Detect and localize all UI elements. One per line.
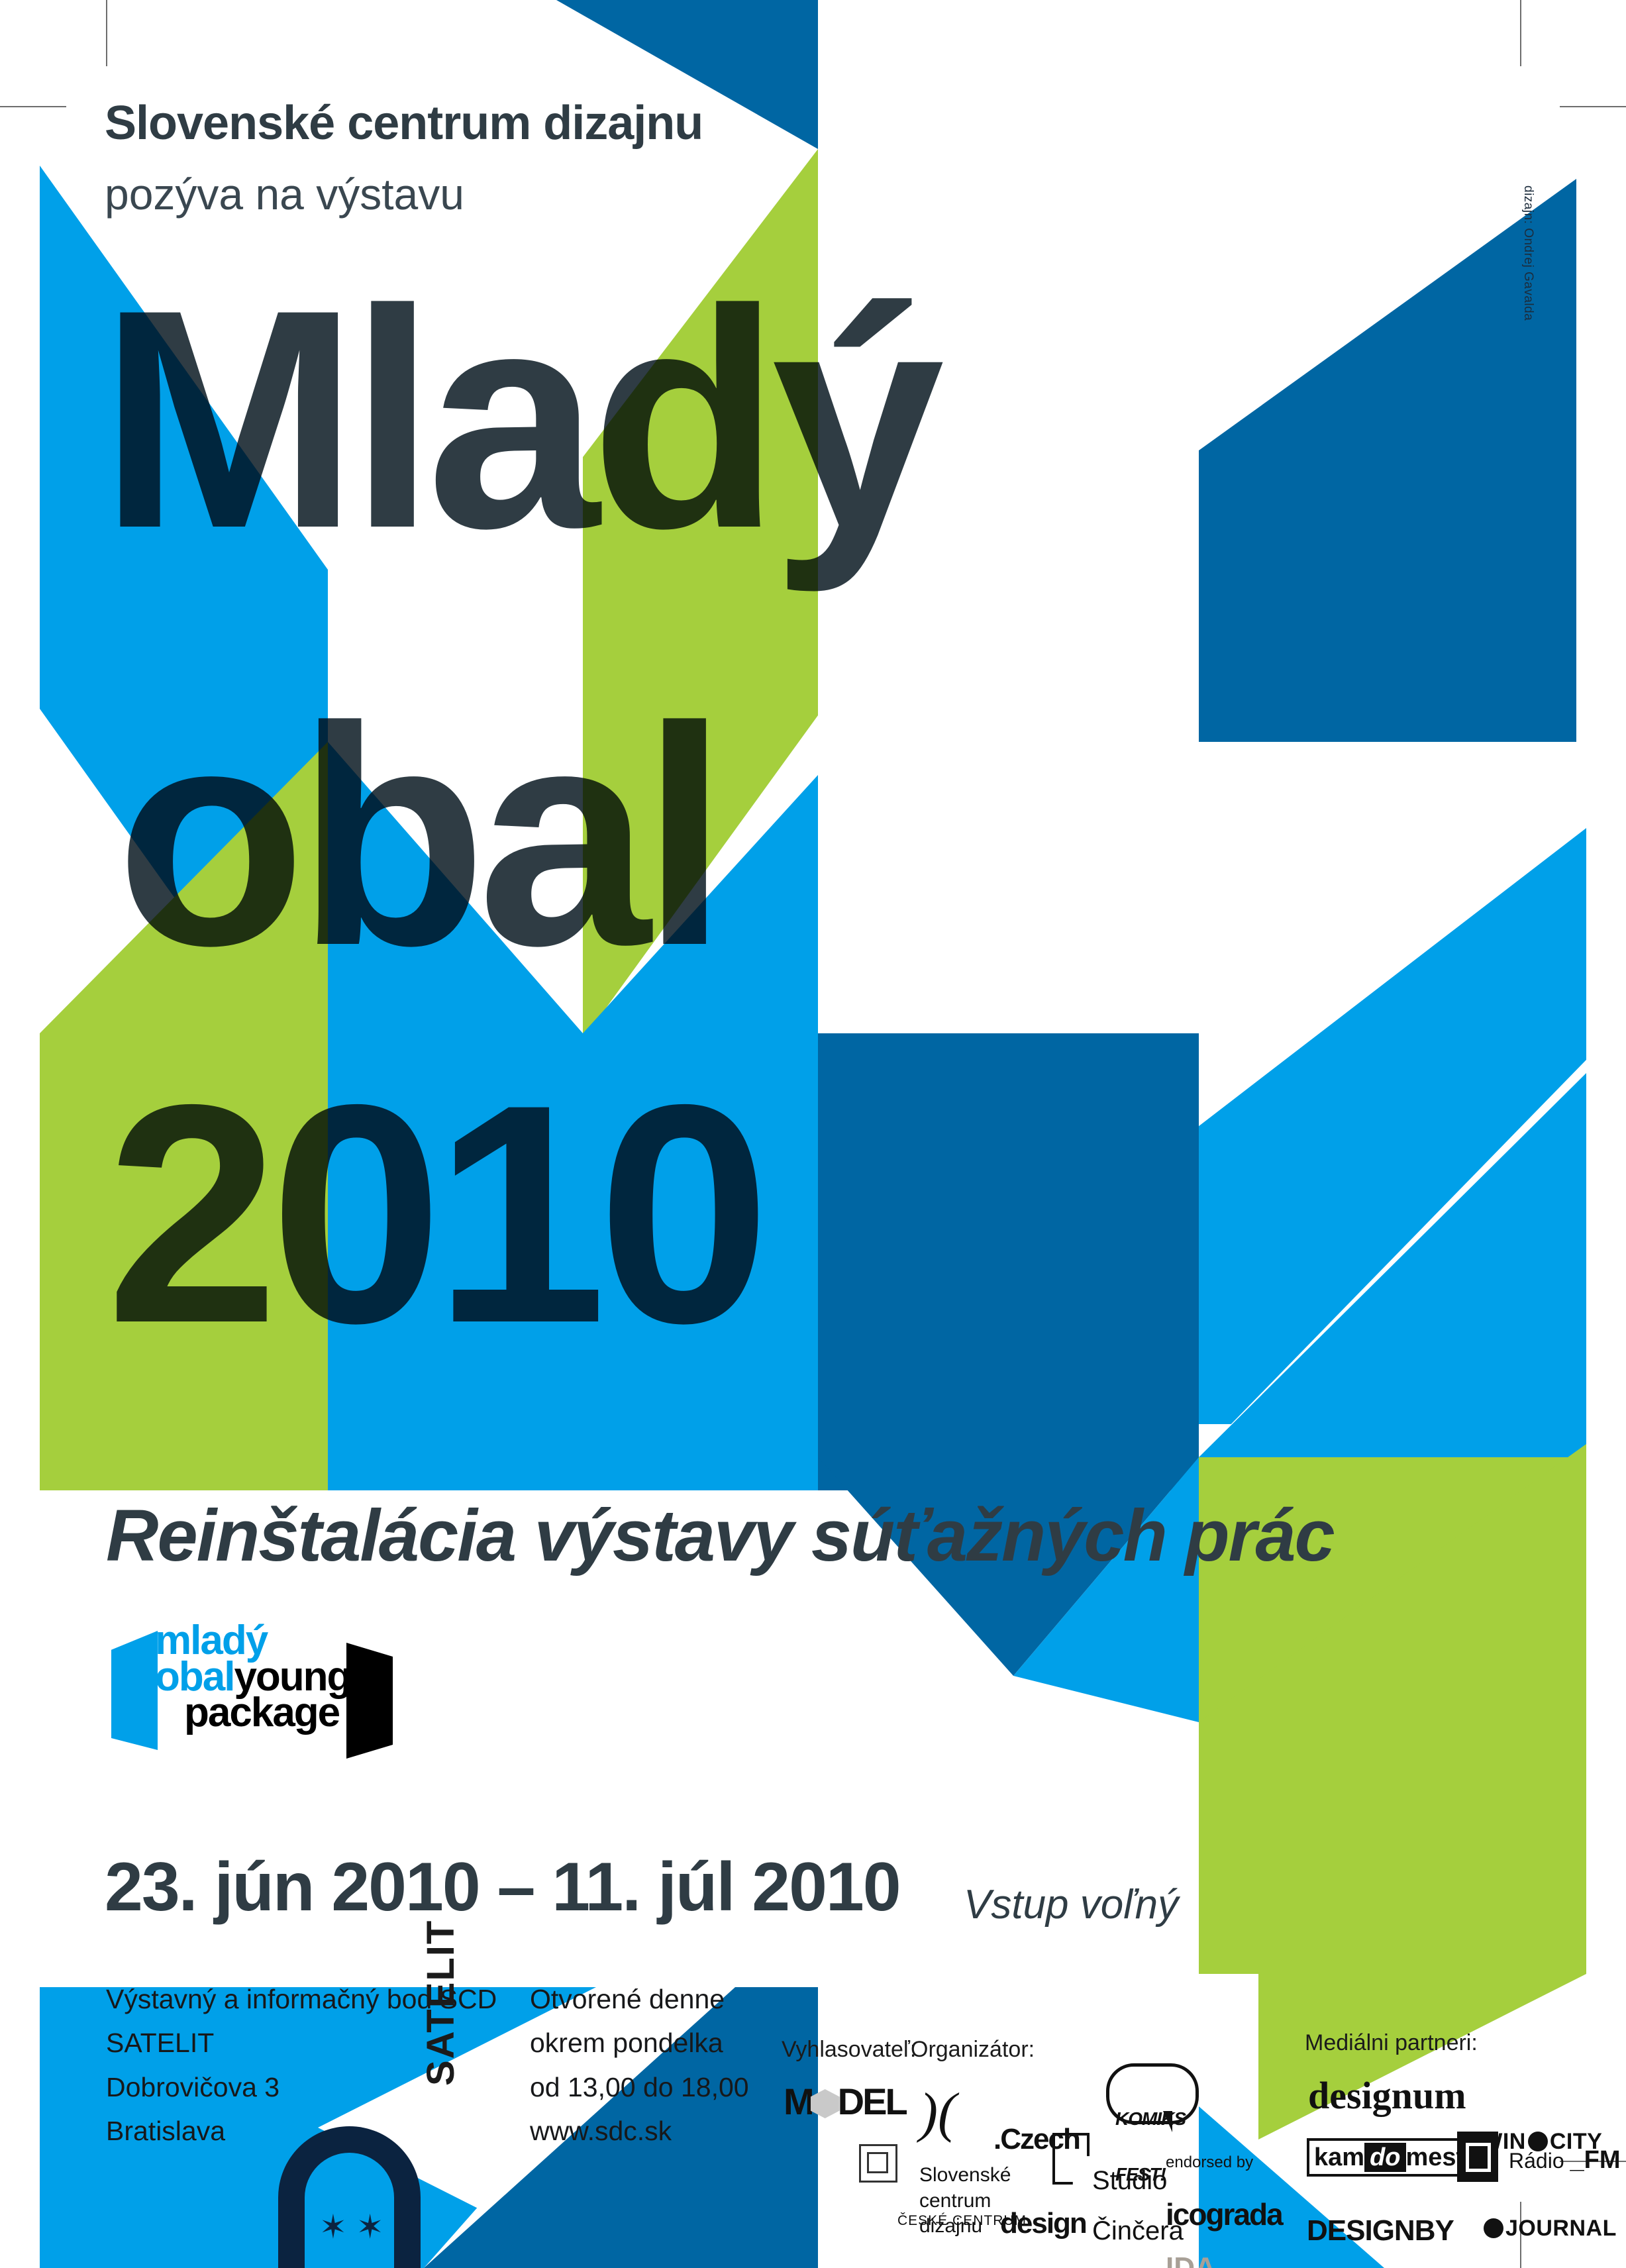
headline-line-2: obal: [116, 709, 719, 964]
radio-fm-wordmark: Rádio _FM: [1509, 2146, 1621, 2175]
model-logo-text-before: M: [784, 2081, 813, 2122]
ceske-centrum-mark-icon: [859, 2144, 897, 2183]
label-media-partners: Mediálni partneri:: [1305, 2030, 1478, 2056]
icograda-wordmark: icograda: [1166, 2199, 1292, 2230]
satelit-stars-icon: ✶ ✶: [319, 2210, 384, 2243]
radio-fm-word: Rádio: [1509, 2149, 1570, 2173]
radio-fm-mark-icon: [1457, 2132, 1498, 2182]
designby-logo[interactable]: DESIGNBY SLOVAK DESIGN PORTAL: [1307, 2192, 1454, 2268]
design-credit: dizajn: Ondrej Gavalda: [1521, 185, 1535, 321]
crop-mark-top-right-v: [1520, 0, 1521, 66]
icograda-endorsed-label: endorsed by: [1166, 2153, 1292, 2172]
designby-wordmark: DESIGNBY: [1307, 2216, 1454, 2245]
komiks-fest-line-1: KOMIKS: [1115, 2110, 1186, 2128]
free-entry-note: Vstup voľný: [964, 1881, 1178, 1928]
young-package-logo: mladý obalyoung package: [111, 1623, 423, 1755]
komiks-fest-logo[interactable]: KOMIKS FEST!: [1106, 2063, 1192, 2136]
radio-fm-logo[interactable]: Rádio _FM: [1457, 2132, 1469, 2179]
satelit-wordmark: SATELIT: [419, 1920, 463, 2086]
organization-title: Slovenské centrum dizajnu: [105, 96, 703, 150]
exhibition-subtitle: Reinštalácia výstavy súťažných prác: [106, 1494, 1334, 1578]
radio-fm-bold: _FM: [1570, 2146, 1621, 2174]
exhibition-date-range: 23. jún 2010 – 11. júl 2010: [105, 1848, 900, 1927]
headline-line-3: 2010: [106, 1086, 762, 1341]
kam-word-1: kam: [1314, 2143, 1364, 2171]
crop-mark-top-right-h: [1560, 106, 1626, 107]
crop-mark-top-left-h: [0, 106, 66, 107]
journal-dot-icon: [1484, 2218, 1503, 2238]
logo-line-package: package: [155, 1695, 420, 1731]
crop-mark-top-left-v: [106, 0, 107, 66]
satelit-badge: ✶ ✶ SATELIT: [278, 2090, 477, 2268]
label-announcer: Vyhlasovateľ:: [782, 2037, 916, 2063]
twin-city-word-journal: JOURNAL: [1505, 2216, 1617, 2241]
icograda-ida-wordmark: IDA: [1166, 2253, 1292, 2268]
ceske-centrum-logo[interactable]: ČESKÉ CENTRUM CZECH CENTRE: [897, 2143, 1027, 2268]
shape-blue-parallelogram-right: [1199, 179, 1576, 815]
shape-white-wedge-mid: [818, 775, 1199, 1033]
twin-city-line-2: JOURNAL: [1467, 2214, 1617, 2243]
poster-canvas: Slovenské centrum dizajnu pozýva na výst…: [0, 0, 1626, 2268]
headline-line-1: Mladý: [99, 291, 935, 546]
model-logo[interactable]: MDEL: [784, 2080, 906, 2123]
logo-wordmark: mladý obalyoung package: [155, 1623, 420, 1731]
designum-logo[interactable]: designum: [1308, 2073, 1466, 2118]
icograda-logo[interactable]: endorsed by icograda IDA leading creativ…: [1166, 2130, 1292, 2268]
kam-word-2: do: [1364, 2143, 1405, 2172]
logo-cyan-panel-icon: [111, 1631, 158, 1750]
opening-hours-block[interactable]: Otvorené denne okrem pondelka od 13,00 d…: [530, 1977, 782, 2153]
model-cube-icon: [811, 2089, 840, 2118]
label-organizer: Organizátor:: [911, 2037, 1035, 2063]
ceske-centrum-line-1: ČESKÉ CENTRUM: [897, 2210, 1027, 2232]
invitation-text: pozýva na výstavu: [105, 169, 464, 219]
model-logo-text-after: DEL: [838, 2081, 906, 2122]
